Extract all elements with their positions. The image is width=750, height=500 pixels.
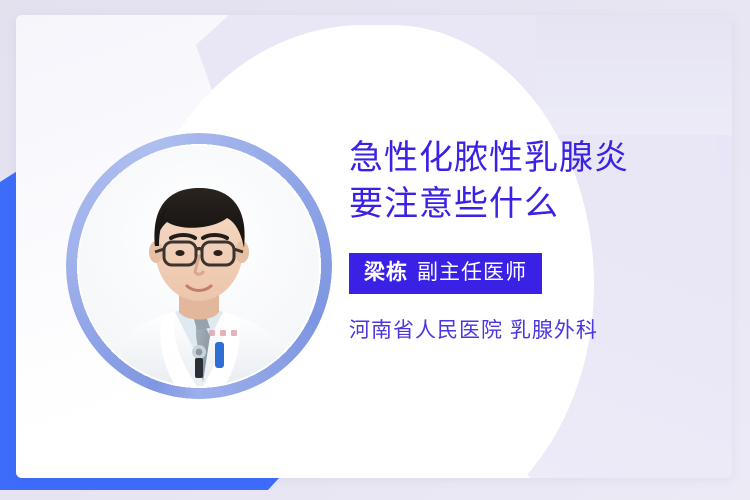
avatar [66, 133, 332, 399]
poster-card: 急性化脓性乳腺炎 要注意些什么 梁栋副主任医师 河南省人民医院 乳腺外科 [16, 15, 732, 478]
text-column: 急性化脓性乳腺炎 要注意些什么 梁栋副主任医师 河南省人民医院 乳腺外科 [349, 135, 709, 344]
doctor-portrait-image [79, 146, 319, 386]
status-badge: 梁栋副主任医师 [349, 253, 542, 294]
poster-canvas: 急性化脓性乳腺炎 要注意些什么 梁栋副主任医师 河南省人民医院 乳腺外科 [0, 0, 750, 500]
affiliation-text: 河南省人民医院 乳腺外科 [349, 318, 709, 344]
decorative-top-band [536, 15, 732, 135]
page-title: 急性化脓性乳腺炎 要注意些什么 [349, 135, 709, 227]
doctor-title: 副主任医师 [417, 261, 527, 284]
doctor-name: 梁栋 [364, 261, 408, 284]
